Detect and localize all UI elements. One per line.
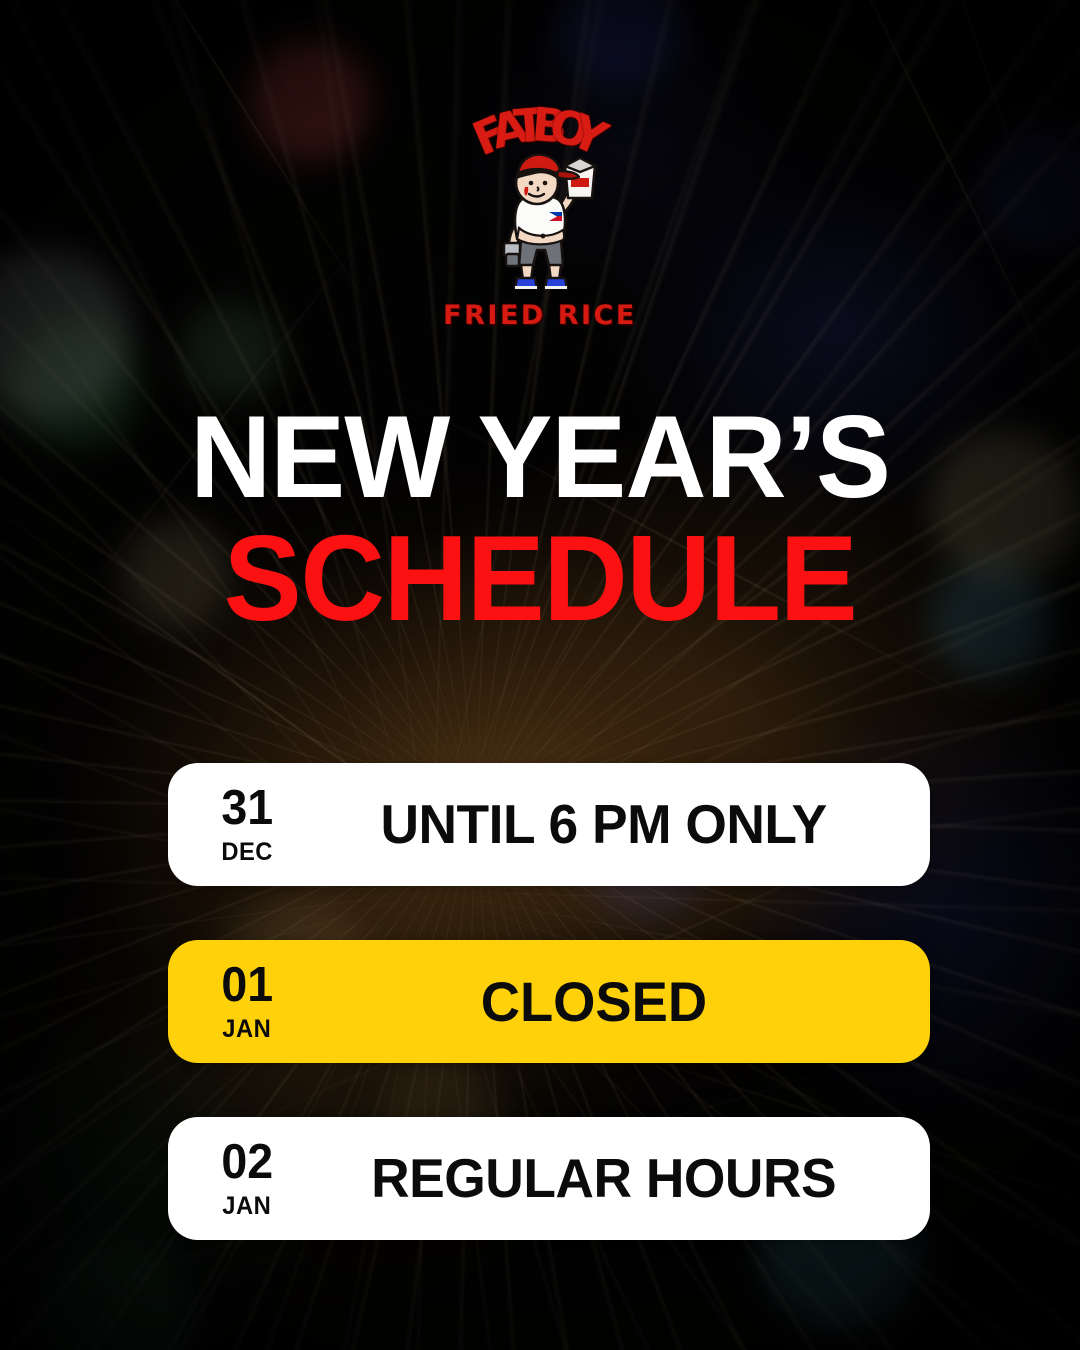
schedule-day-number: 31 [221,784,273,833]
schedule-month-label: JAN [223,1017,272,1042]
schedule-row-jan-01: 01 JAN CLOSED [168,940,930,1063]
schedule-status-label: CLOSED [325,974,921,1030]
schedule-date-block: 02 JAN [168,1138,316,1219]
schedule-day-number: 02 [221,1138,273,1187]
brand-wordmark: FATBOY [425,96,655,150]
fatboy-mascot-icon [465,146,615,296]
brand-tagline: FRIED RICE [443,300,637,331]
brand-logo: FATBOY [0,96,1080,331]
schedule-status-label: UNTIL 6 PM ONLY [325,797,921,852]
schedule-date-block: 01 JAN [168,961,316,1042]
schedule-row-jan-02: 02 JAN REGULAR HOURS [168,1117,930,1240]
schedule-status-label: REGULAR HOURS [325,1151,921,1206]
schedule-day-number: 01 [221,961,273,1010]
schedule-row-dec-31: 31 DEC UNTIL 6 PM ONLY [168,763,930,886]
headline-line-1: NEW YEAR’S [22,400,1059,513]
schedule-month-label: JAN [223,1194,272,1219]
schedule-date-block: 31 DEC [168,784,316,865]
page-title: NEW YEAR’S SCHEDULE [0,400,1080,638]
headline-line-2: SCHEDULE [22,519,1059,637]
poster-canvas: FATBOY [0,0,1080,1350]
schedule-list: 31 DEC UNTIL 6 PM ONLY 01 JAN CLOSED 02 … [168,763,930,1240]
schedule-month-label: DEC [221,840,273,865]
